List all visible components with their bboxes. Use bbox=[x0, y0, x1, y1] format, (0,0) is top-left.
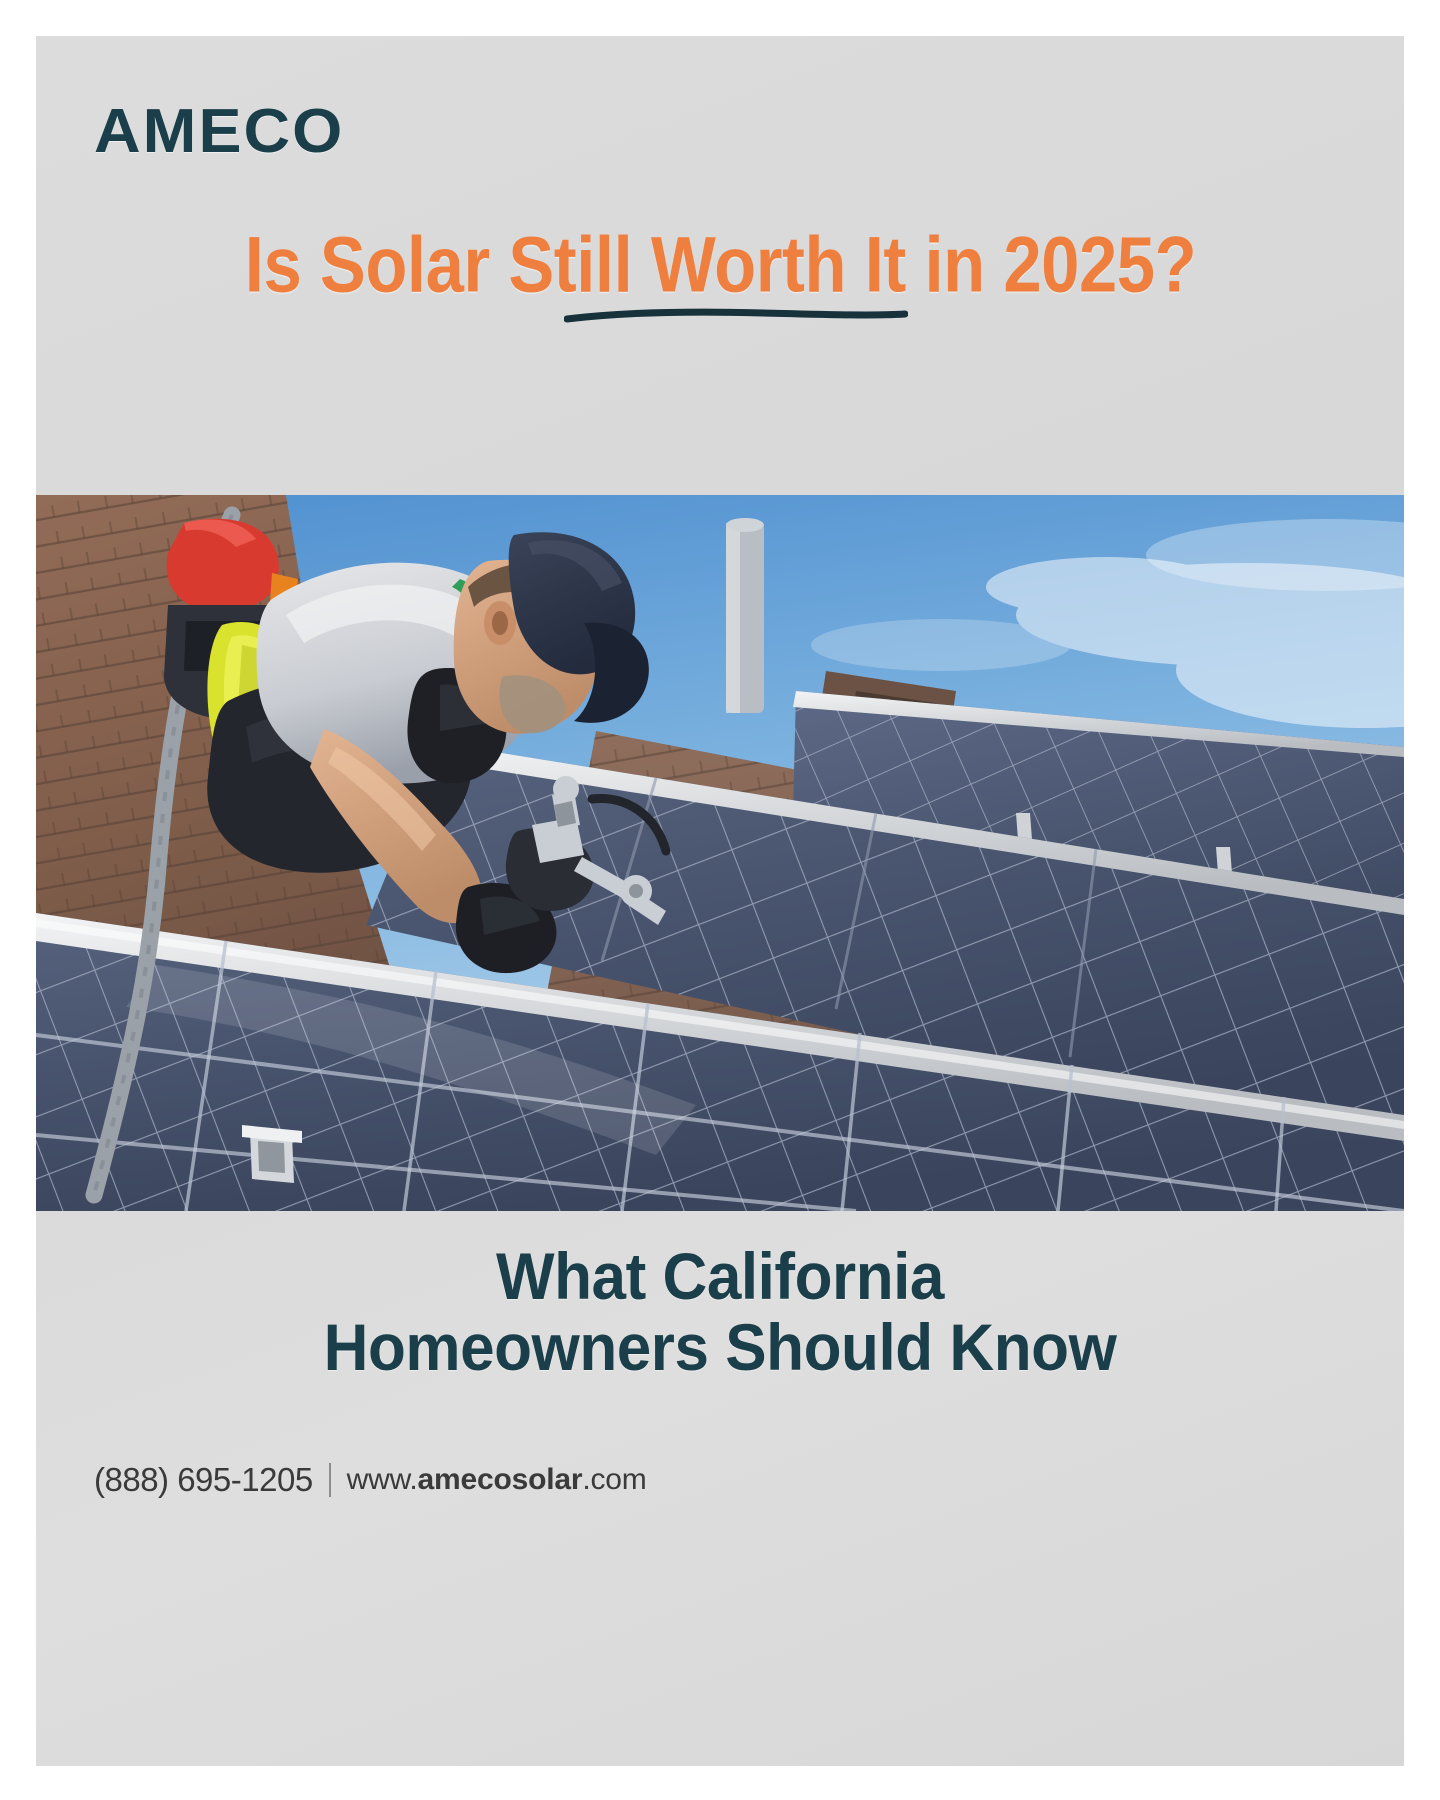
phone-number[interactable]: (888) 695-1205 bbox=[94, 1461, 313, 1499]
hero-photo bbox=[36, 495, 1404, 1211]
website-url[interactable]: www.amecosolar.com bbox=[347, 1463, 647, 1497]
website-prefix: www. bbox=[347, 1463, 418, 1496]
vent-pipe bbox=[726, 518, 764, 713]
cover-page: AMECO Is Solar Still Worth It in 2025? bbox=[36, 36, 1404, 1766]
page-title: Is Solar Still Worth It in 2025? bbox=[244, 226, 1195, 304]
hand-drawn-underline-icon bbox=[564, 308, 908, 324]
website-domain: amecosolar bbox=[418, 1463, 583, 1496]
subheadline-block: What California Homeowners Should Know bbox=[36, 1241, 1404, 1382]
ameco-logo: AMECO bbox=[94, 96, 344, 167]
subheadline-line-1: What California bbox=[77, 1241, 1363, 1312]
website-suffix: .com bbox=[582, 1463, 646, 1496]
subheadline-line-2: Homeowners Should Know bbox=[77, 1312, 1363, 1383]
headline-block: Is Solar Still Worth It in 2025? bbox=[36, 226, 1404, 300]
footer-contact-bar: (888) 695-1205 www.amecosolar.com bbox=[94, 1461, 647, 1499]
footer-divider bbox=[329, 1463, 331, 1497]
hero-photo-illustration bbox=[36, 495, 1404, 1211]
